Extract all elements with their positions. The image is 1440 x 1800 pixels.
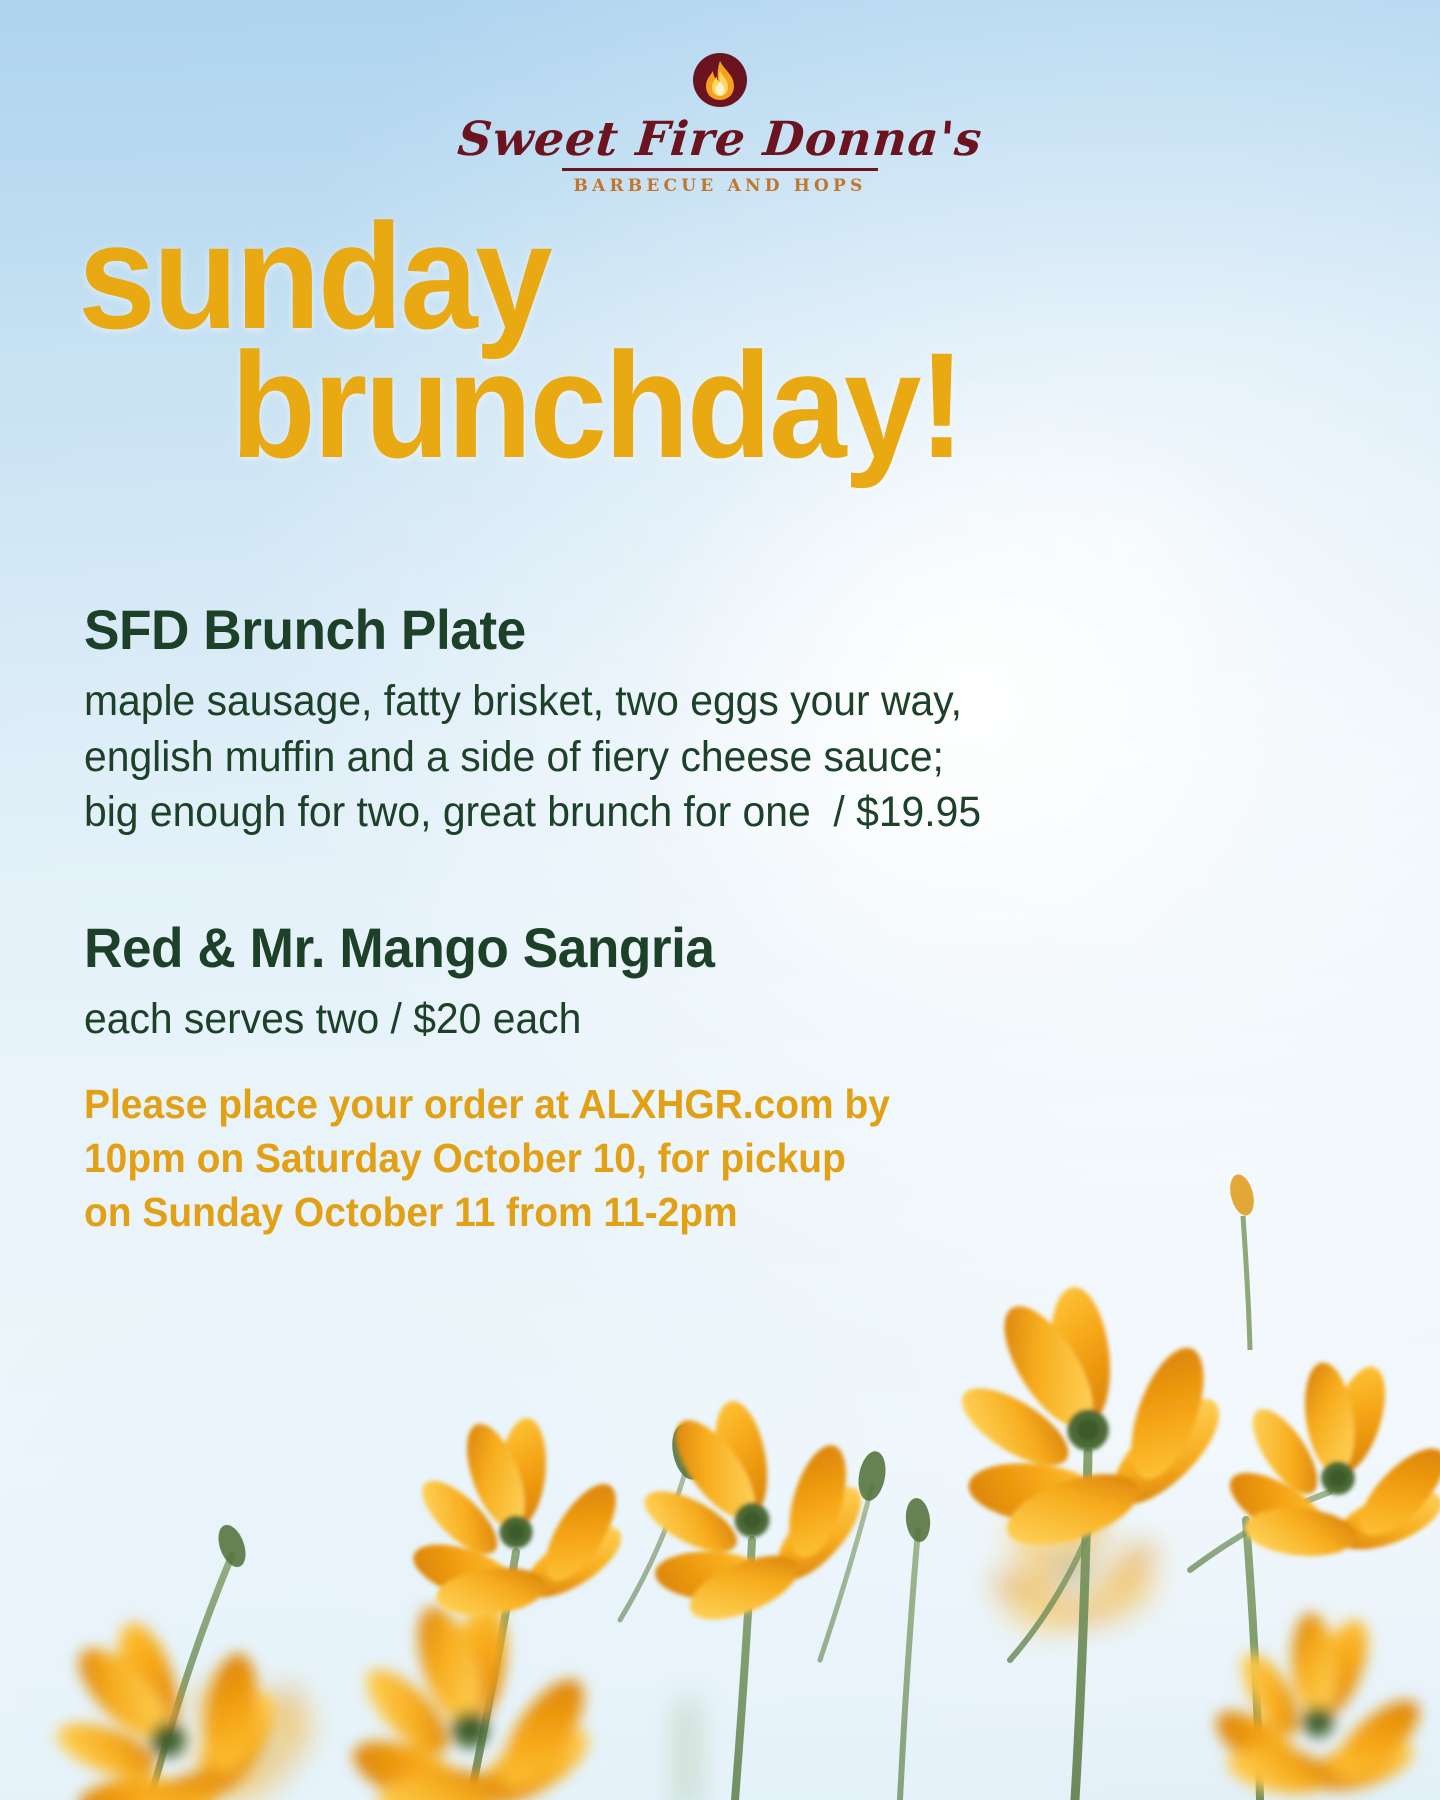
menu-item-title: SFD Brunch Plate bbox=[84, 600, 1310, 660]
description-line: english muffin and a side of fiery chees… bbox=[84, 730, 1310, 785]
order-instruction-line: on Sunday October 11 from 11-2pm bbox=[84, 1185, 1310, 1239]
order-instruction-line: Please place your order at ALXHGR.com by bbox=[84, 1077, 1310, 1131]
menu-item-sangria: Red & Mr. Mango Sangria each serves two … bbox=[84, 918, 1374, 1048]
brand-name: Sweet Fire Donna's bbox=[0, 116, 1440, 164]
description-line: big enough for two, great brunch for one… bbox=[84, 785, 1310, 840]
brand-divider bbox=[562, 168, 878, 171]
description-line: maple sausage, fatty brisket, two eggs y… bbox=[84, 674, 1310, 729]
menu-item-description: each serves two / $20 each bbox=[84, 992, 1310, 1047]
section-spacer bbox=[84, 840, 1374, 918]
flyer-canvas: Sweet Fire Donna's BARBECUE AND HOPS sun… bbox=[0, 0, 1440, 1800]
menu-item-description: maple sausage, fatty brisket, two eggs y… bbox=[84, 674, 1310, 839]
menu-item-brunch-plate: SFD Brunch Plate maple sausage, fatty br… bbox=[84, 600, 1374, 840]
order-instruction-line: 10pm on Saturday October 10, for pickup bbox=[84, 1131, 1310, 1185]
page-title: sunday brunchday! bbox=[0, 212, 1440, 470]
menu-content: SFD Brunch Plate maple sausage, fatty br… bbox=[84, 600, 1374, 1239]
menu-item-title: Red & Mr. Mango Sangria bbox=[84, 918, 1310, 978]
order-instructions: Please place your order at ALXHGR.com by… bbox=[84, 1077, 1310, 1239]
brand-logo: Sweet Fire Donna's BARBECUE AND HOPS bbox=[0, 52, 1440, 196]
flame-icon bbox=[692, 52, 748, 108]
headline-line-2: brunchday! bbox=[0, 341, 1339, 470]
description-line: each serves two / $20 each bbox=[84, 992, 1310, 1047]
